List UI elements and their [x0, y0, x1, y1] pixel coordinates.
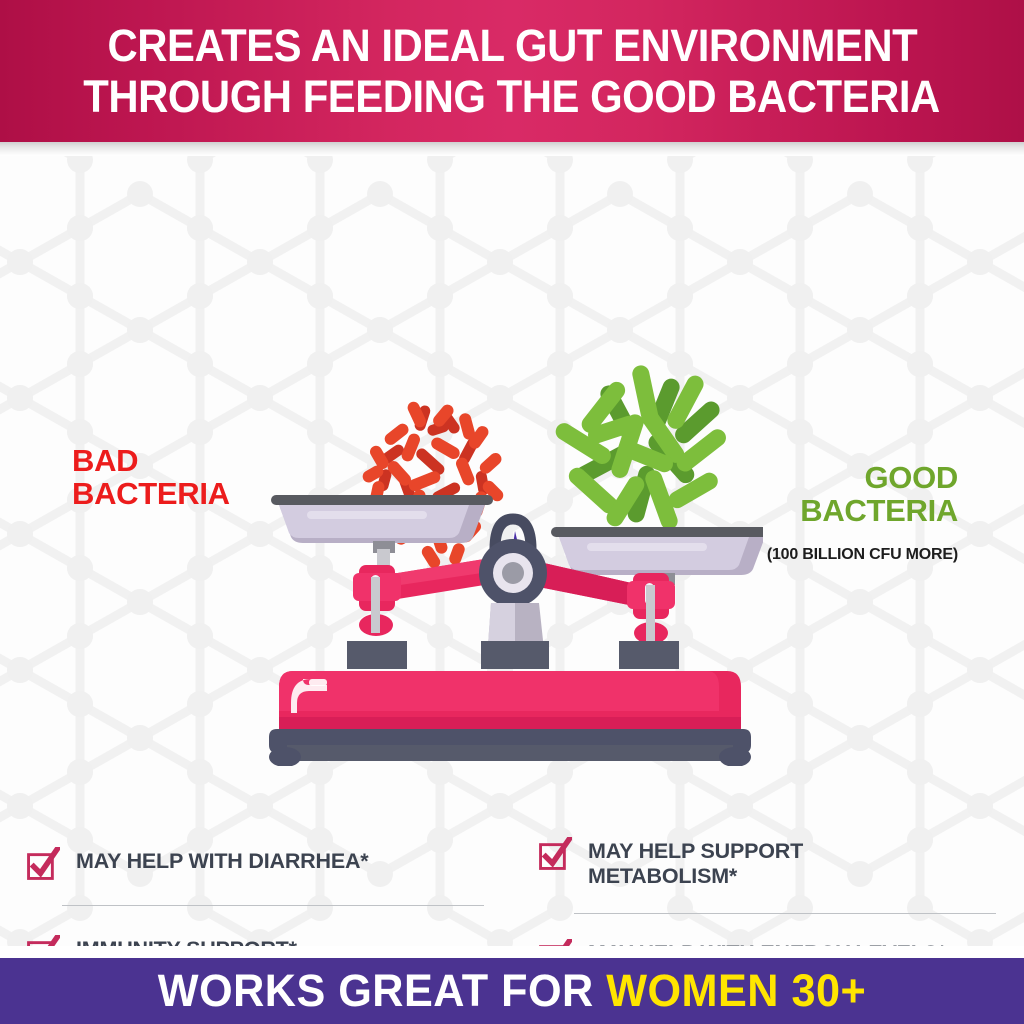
- benefit-label: MAY HELP WITH ENERGY LEVELS*: [588, 937, 946, 946]
- check-icon: [538, 939, 572, 946]
- good-bacteria-label-line-2: BACTERIA: [800, 494, 958, 527]
- illustration-stage: BAD BACTERIA GOOD BACTERIA (100 BILLION …: [0, 156, 1024, 946]
- footer-text: WORKS GREAT FOR WOMEN 30+: [158, 966, 866, 1016]
- benefit-item[interactable]: MAY HELP WITH ENERGY LEVELS*: [538, 937, 996, 946]
- good-bacteria-label-line-1: GOOD: [800, 461, 958, 494]
- benefit-divider: [574, 913, 996, 914]
- benefit-divider: [62, 905, 484, 906]
- footer-text-primary: WORKS GREAT FOR: [158, 965, 606, 1016]
- check-icon: [538, 837, 572, 871]
- footer-banner: WORKS GREAT FOR WOMEN 30+: [0, 958, 1024, 1024]
- benefit-label: IMMUNITY SUPPORT*: [76, 933, 297, 946]
- benefits-right-column: MAY HELP SUPPORT METABOLISM* MAY HELP WI…: [512, 821, 1024, 946]
- benefit-label: MAY HELP SUPPORT METABOLISM*: [588, 835, 878, 889]
- bad-bacteria-label: BAD BACTERIA: [72, 444, 230, 510]
- benefit-label: MAY HELP WITH DIARRHEA*: [76, 845, 368, 874]
- benefits-left-column: MAY HELP WITH DIARRHEA* IMMUNITY SUPPORT…: [0, 821, 512, 946]
- benefit-item[interactable]: IMMUNITY SUPPORT*: [26, 933, 484, 946]
- good-bacteria-sublabel: (100 BILLION CFU MORE): [767, 546, 958, 564]
- header-banner: CREATES AN IDEAL GUT ENVIRONMENT THROUGH…: [0, 0, 1024, 142]
- scale-base: [269, 671, 751, 766]
- check-icon: [26, 847, 60, 881]
- good-bacteria-icon: [552, 364, 729, 532]
- bad-bacteria-label-line-1: BAD: [72, 444, 230, 477]
- benefit-item[interactable]: MAY HELP SUPPORT METABOLISM*: [538, 835, 996, 889]
- good-bacteria-label: GOOD BACTERIA: [800, 461, 958, 527]
- check-icon: [26, 935, 60, 946]
- footer-text-highlight: WOMEN 30+: [606, 965, 866, 1016]
- header-title-line-1: CREATES AN IDEAL GUT ENVIRONMENT: [107, 20, 917, 71]
- header-title-line-2: THROUGH FEEDING THE GOOD BACTERIA: [84, 71, 941, 122]
- header-divider: [0, 142, 1024, 156]
- benefits-checklist: MAY HELP WITH DIARRHEA* IMMUNITY SUPPORT…: [0, 821, 1024, 946]
- benefit-item[interactable]: MAY HELP WITH DIARRHEA*: [26, 845, 484, 881]
- bad-bacteria-label-line-2: BACTERIA: [72, 477, 230, 510]
- balance-scale-illustration: [263, 341, 763, 766]
